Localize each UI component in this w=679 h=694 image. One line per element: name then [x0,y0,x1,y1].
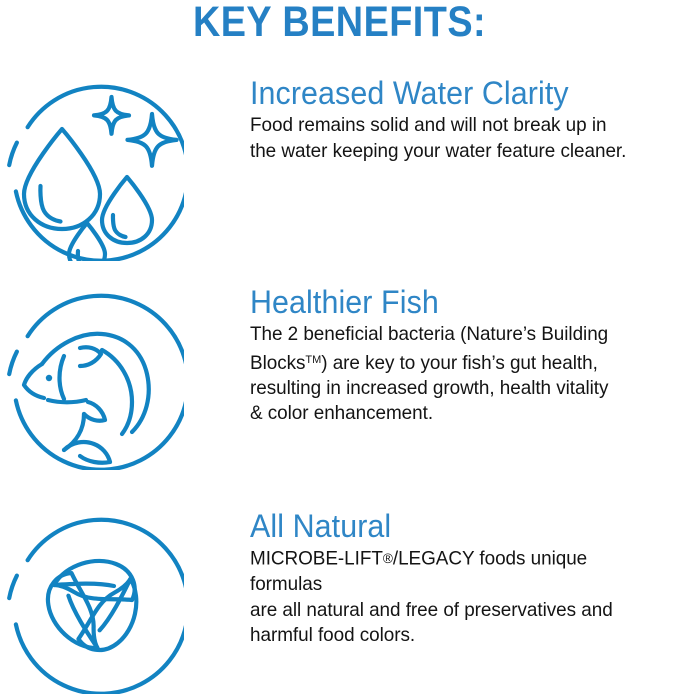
water-droplets-sparkle-icon [4,81,184,261]
benefit-heading: Healthier Fish [250,284,653,320]
benefit-body-line: Food remains solid and will not break up… [250,114,606,136]
benefit-body-line: MICROBE-LIFT [250,548,383,570]
registered-mark: ® [383,550,393,566]
benefit-text-healthier-fish: Healthier Fish The 2 beneficial bacteria… [250,284,674,427]
benefit-body-line: & color enhancement. [250,402,433,424]
benefit-text-water-clarity: Increased Water Clarity Food remains sol… [250,75,674,164]
benefit-body: Food remains solid and will not break up… [250,113,661,164]
benefit-body-line: are all natural and free of preservative… [250,599,613,621]
leaping-fish-icon [4,290,184,470]
benefit-body-line: ) are key to your fish’s gut health, [321,351,598,373]
benefit-body: MICROBE-LIFT®/LEGACY foods unique formul… [250,546,661,649]
benefit-body-line: the water keeping your water feature cle… [250,140,626,162]
trademark-superscript: TM [305,354,321,366]
benefit-body-line: Blocks [250,351,305,373]
benefit-body-line: resulting in increased growth, health vi… [250,377,608,399]
benefit-body-line: harmful food colors. [250,624,415,646]
benefit-heading: Increased Water Clarity [250,75,653,111]
page-title: KEY BENEFITS: [41,0,639,48]
benefit-body: The 2 beneficial bacteria (Nature’s Buil… [250,322,661,427]
three-leaves-recycle-icon [4,514,184,694]
benefit-text-all-natural: All Natural MICROBE-LIFT®/LEGACY foods u… [250,508,674,649]
benefit-heading: All Natural [250,508,653,544]
key-benefits-page: KEY BENEFITS: [0,0,679,692]
benefit-body-line: The 2 beneficial bacteria (Nature’s Buil… [250,323,608,345]
